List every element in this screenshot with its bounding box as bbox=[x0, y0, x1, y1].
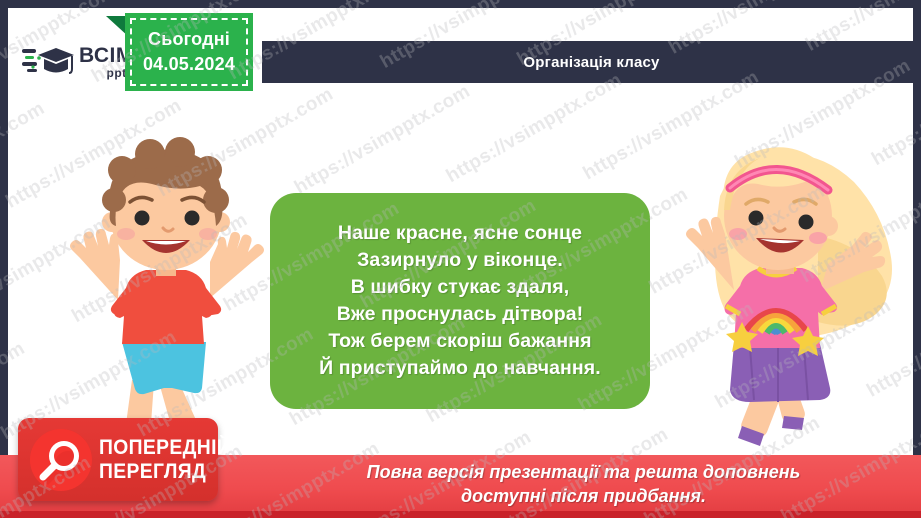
preview-badge-word-1: ПОПЕРЕДНІЙ bbox=[99, 437, 231, 458]
poem-line: Й приступаймо до навчання. bbox=[319, 355, 601, 382]
header-bar: Організація класу bbox=[262, 41, 913, 83]
boy-illustration bbox=[60, 130, 280, 430]
purchase-banner-line: Повна версія презентації та решта доповн… bbox=[367, 461, 801, 485]
purchase-banner-text: Повна версія презентації та решта доповн… bbox=[246, 459, 921, 511]
preview-badge[interactable]: ПОПЕРЕДНІЙ ПЕРЕГЛЯД bbox=[18, 418, 218, 501]
date-badge: Сьогодні 04.05.2024 bbox=[125, 13, 253, 91]
magnifier-icon bbox=[30, 429, 92, 491]
poem-line: Наше красне, ясне сонце bbox=[338, 220, 582, 247]
poem-line: Зазирнуло у віконце. bbox=[357, 247, 563, 274]
date-badge-value: 04.05.2024 bbox=[143, 54, 235, 75]
poem-line: В шибку стукає здаля, bbox=[351, 274, 570, 301]
brand-logo[interactable]: ВСІМ pptx bbox=[22, 38, 142, 86]
purchase-banner-line: доступні після придбання. bbox=[461, 485, 706, 509]
preview-badge-words: ПОПЕРЕДНІЙ ПЕРЕГЛЯД bbox=[99, 437, 243, 482]
date-badge-label: Сьогодні bbox=[148, 29, 230, 50]
poem-card: Наше красне, ясне сонце Зазирнуло у віко… bbox=[270, 193, 650, 409]
slide: Наше красне, ясне сонце Зазирнуло у віко… bbox=[0, 0, 921, 518]
poem-line: Тож берем скоріш бажання bbox=[328, 328, 591, 355]
banner-bottom-strip bbox=[0, 511, 921, 518]
preview-badge-word-2: ПЕРЕГЛЯД bbox=[99, 461, 231, 482]
page-title: Організація класу bbox=[523, 54, 659, 71]
girl-illustration bbox=[668, 126, 903, 466]
graduation-cap-icon bbox=[22, 42, 74, 82]
poem-line: Вже проснулась дітвора! bbox=[337, 301, 584, 328]
